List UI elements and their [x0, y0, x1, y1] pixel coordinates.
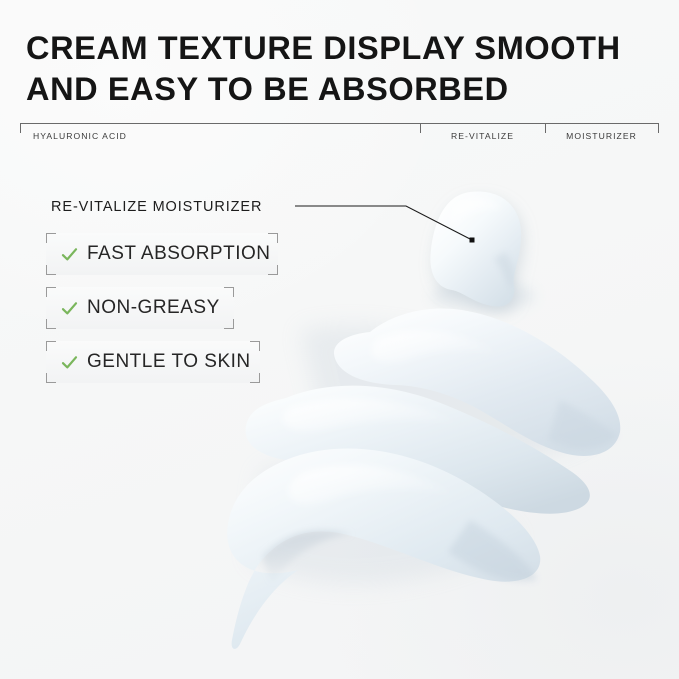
bracket-corner-top-right — [224, 287, 234, 297]
bracket-corner-bottom-left — [46, 265, 56, 275]
category-divider-line — [20, 123, 658, 124]
feature-label: NON-GREASY — [87, 297, 220, 319]
feature-label: FAST ABSORPTION — [87, 243, 270, 265]
divider-tick-left — [20, 123, 21, 133]
feature-item-gentle-to-skin[interactable]: GENTLE TO SKIN — [46, 341, 260, 383]
check-icon — [61, 246, 78, 263]
feature-label: GENTLE TO SKIN — [87, 351, 251, 373]
bracket-corner-bottom-right — [250, 373, 260, 383]
feature-item-non-greasy[interactable]: NON-GREASY — [46, 287, 234, 329]
product-texture-infographic: CREAM TEXTURE DISPLAY SMOOTH AND EASY TO… — [0, 0, 679, 679]
cream-dollop — [430, 192, 535, 312]
bracket-corner-top-left — [46, 287, 56, 297]
check-icon — [61, 354, 78, 371]
bracket-corner-bottom-right — [224, 319, 234, 329]
bracket-corner-top-left — [46, 341, 56, 351]
callout-label: RE-VITALIZE MOISTURIZER — [51, 199, 262, 215]
category-label-moisturizer: MOISTURIZER — [545, 131, 658, 141]
feature-item-fast-absorption[interactable]: FAST ABSORPTION — [46, 233, 278, 275]
bracket-corner-top-right — [268, 233, 278, 243]
divider-tick-right — [658, 123, 659, 133]
bracket-corner-top-right — [250, 341, 260, 351]
category-label-re-vitalize: RE-VITALIZE — [420, 131, 545, 141]
bracket-corner-bottom-right — [268, 265, 278, 275]
page-title: CREAM TEXTURE DISPLAY SMOOTH AND EASY TO… — [26, 28, 656, 110]
bracket-corner-top-left — [46, 233, 56, 243]
bracket-corner-bottom-left — [46, 373, 56, 383]
cream-swatch — [227, 308, 620, 648]
check-icon — [61, 300, 78, 317]
category-label-hyaluronic-acid: HYALURONIC ACID — [33, 131, 127, 141]
bracket-corner-bottom-left — [46, 319, 56, 329]
